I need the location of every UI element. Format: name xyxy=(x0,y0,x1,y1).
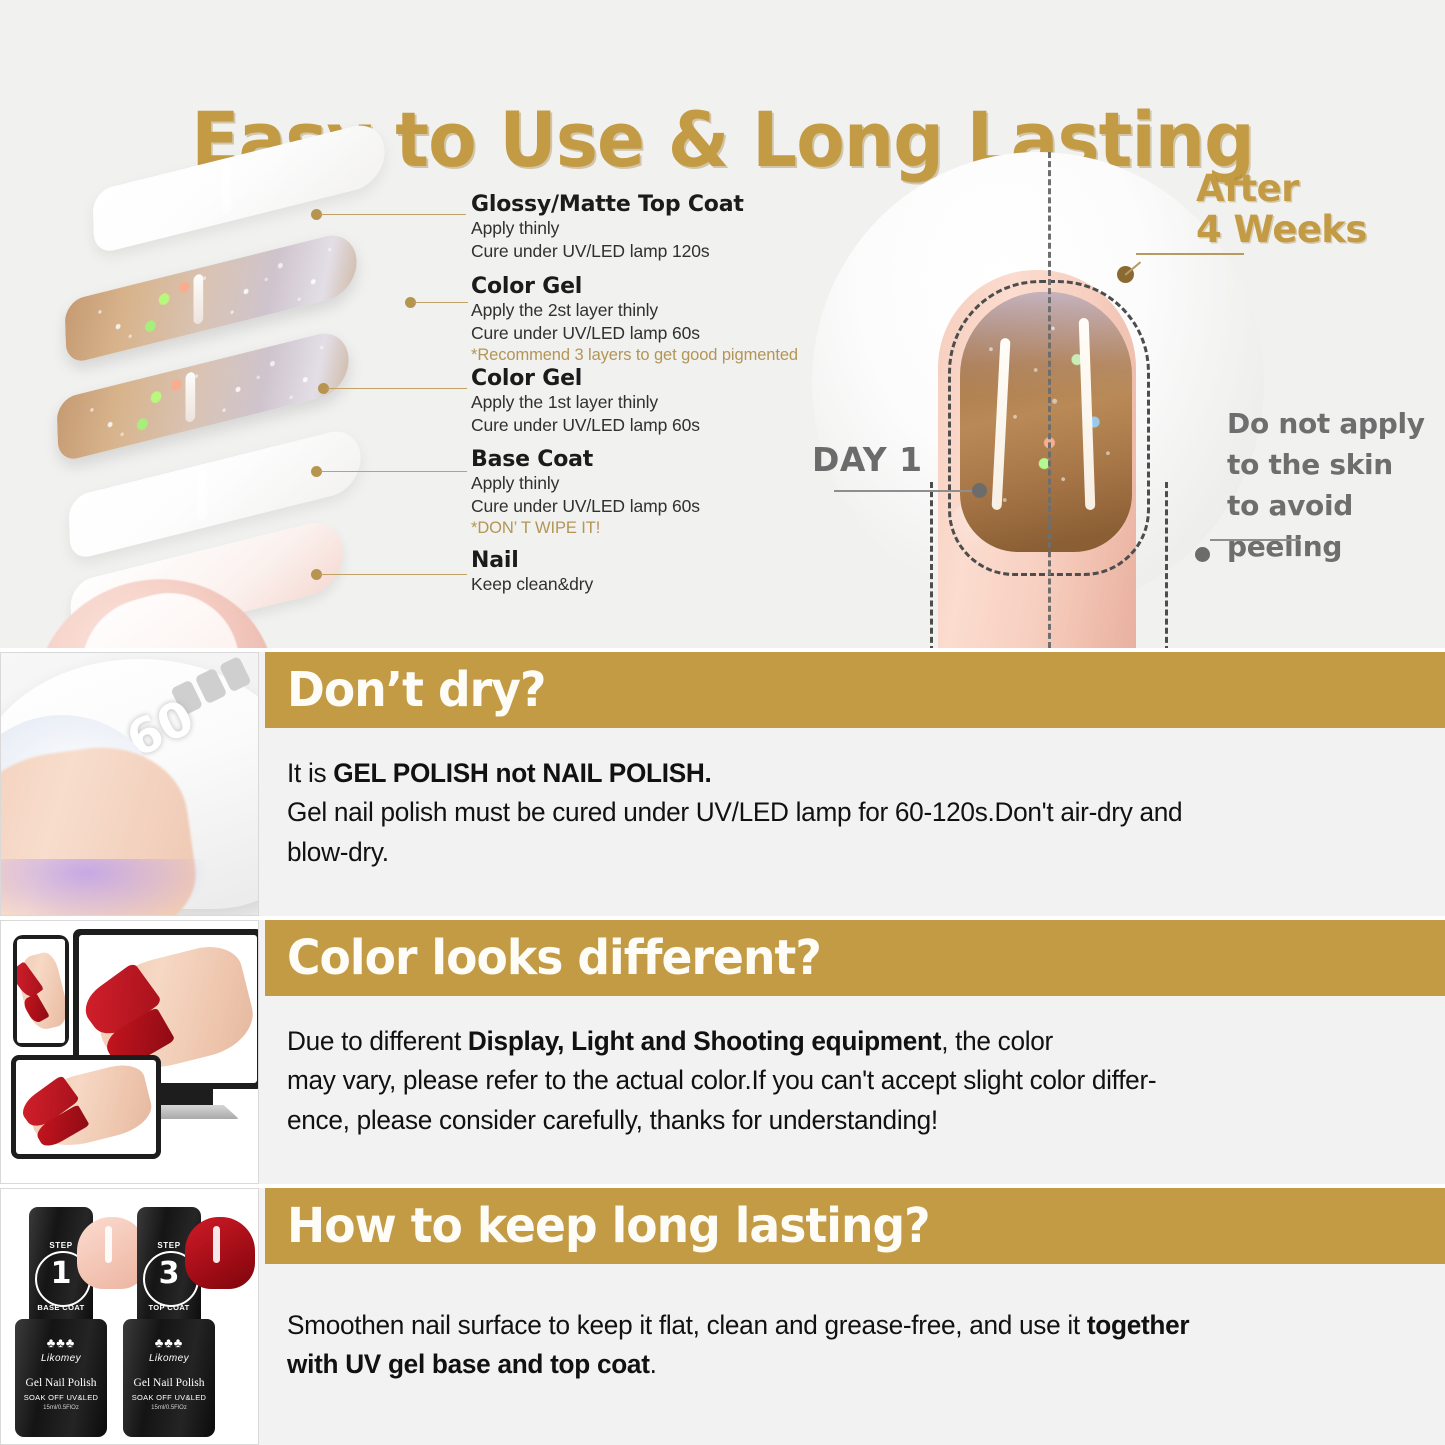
leader-line-nail xyxy=(320,574,467,575)
callout-base-coat: Base Coat Apply thinly Cure under UV/LED… xyxy=(471,447,700,540)
uv-glow xyxy=(0,859,211,916)
swatch-shine xyxy=(213,1226,220,1263)
leader-line-color-gel-2 xyxy=(414,302,468,303)
callout-color-gel-1: Color Gel Apply the 1st layer thinly Cur… xyxy=(471,366,700,437)
after-label-line-1: After xyxy=(1196,167,1299,210)
devices-photo xyxy=(0,920,259,1184)
day1-week4-divider xyxy=(1048,152,1051,648)
donot-line-1: Do not apply xyxy=(1227,407,1425,440)
callout-title: Glossy/Matte Top Coat xyxy=(471,192,744,217)
callout-line-2: Cure under UV/LED lamp 120s xyxy=(471,240,744,263)
faq-section-long-lasting: STEP 1 BASE COAT ♣♣♣ Likomey Gel Nail Po… xyxy=(0,1188,1445,1445)
do-not-apply-label: Do not apply to the skin to avoid peelin… xyxy=(1227,404,1445,568)
faq-header-bar: Color looks different? xyxy=(265,920,1445,996)
faq-content-dont-dry: Don’t dry? It is GEL POLISH not NAIL POL… xyxy=(265,652,1445,872)
bottles-photo: STEP 1 BASE COAT ♣♣♣ Likomey Gel Nail Po… xyxy=(0,1188,259,1445)
callout-title: Color Gel xyxy=(471,274,798,299)
volume-text: 15ml/0.5FlOz xyxy=(123,1405,215,1411)
nail-art-hand-image xyxy=(24,1060,156,1154)
soak-off-text: SOAK OFF UV&LED xyxy=(123,1393,215,1402)
callout-title: Nail xyxy=(471,548,593,573)
donot-line-2: to the skin xyxy=(1227,448,1393,481)
uv-lamp-photo: 60 xyxy=(0,652,259,916)
phone-screen xyxy=(17,939,65,1043)
donot-leader-line xyxy=(1210,539,1300,541)
step-type: BASE COAT xyxy=(29,1303,93,1312)
brand-name: Likomey xyxy=(15,1353,107,1364)
faq-heading: Color looks different? xyxy=(287,930,821,986)
callout-line-1: Apply the 2st layer thinly xyxy=(471,299,798,322)
day-1-label: DAY 1 xyxy=(812,440,923,479)
faq-body-text: Due to different Display, Light and Shoo… xyxy=(287,1022,1381,1140)
callout-note: *Recommend 3 layers to get good pigmente… xyxy=(471,345,798,367)
faq-content-long-lasting: How to keep long lasting? Smoothen nail … xyxy=(265,1188,1445,1385)
donot-line-3: to avoid peeling xyxy=(1227,489,1353,563)
infographic-page: Easy to Use & Long Lasting Glossy/Matte … xyxy=(0,0,1445,1445)
chip-shine xyxy=(193,274,203,326)
faq-body-text: It is GEL POLISH not NAIL POLISH.Gel nai… xyxy=(287,754,1381,872)
callout-title: Base Coat xyxy=(471,447,700,472)
callout-line-1: Keep clean&dry xyxy=(471,573,593,596)
phone-device xyxy=(13,935,69,1047)
product-name: Gel Nail Polish xyxy=(123,1377,215,1389)
callout-line-1: Apply the 1st layer thinly xyxy=(471,391,700,414)
faq-header-bar: How to keep long lasting? xyxy=(265,1188,1445,1264)
tablet-device xyxy=(11,1055,161,1159)
brand-name: Likomey xyxy=(123,1353,215,1364)
faq-section-color-different: Color looks different? Due to different … xyxy=(0,920,1445,1184)
red-nail-swatch xyxy=(185,1217,255,1289)
step-type: TOP COAT xyxy=(137,1303,201,1312)
hero-panel: Easy to Use & Long Lasting Glossy/Matte … xyxy=(0,0,1445,648)
brand-logo-icon: ♣♣♣ xyxy=(15,1335,107,1350)
devices-illustration xyxy=(1,921,258,1183)
faq-content-color-different: Color looks different? Due to different … xyxy=(265,920,1445,1140)
faq-heading: Don’t dry? xyxy=(287,662,545,718)
chip-shine xyxy=(197,470,207,522)
leader-line-top-coat xyxy=(320,214,466,215)
callout-top-coat: Glossy/Matte Top Coat Apply thinly Cure … xyxy=(471,192,744,263)
callout-note: *DON’ T WIPE IT! xyxy=(471,518,700,540)
faq-body-text: Smoothen nail surface to keep it flat, c… xyxy=(287,1306,1381,1385)
callout-line-2: Cure under UV/LED lamp 60s xyxy=(471,322,798,345)
product-name: Gel Nail Polish xyxy=(15,1377,107,1389)
leader-line-color-gel-1 xyxy=(327,388,467,389)
callout-line-2: Cure under UV/LED lamp 60s xyxy=(471,495,700,518)
monitor-stand xyxy=(153,1089,213,1105)
soak-off-text: SOAK OFF UV&LED xyxy=(15,1393,107,1402)
swatch-shine xyxy=(105,1226,112,1263)
volume-text: 15ml/0.5FlOz xyxy=(15,1405,107,1411)
callout-line-2: Cure under UV/LED lamp 60s xyxy=(471,414,700,437)
donot-leader-dot xyxy=(1195,547,1210,562)
faq-section-dont-dry: 60 Don’t dry? It is GEL POLISH not NAIL … xyxy=(0,652,1445,916)
after-leader-line xyxy=(1136,253,1244,255)
faq-body: Due to different Display, Light and Shoo… xyxy=(265,996,1445,1140)
leader-line-base-coat xyxy=(320,471,467,472)
day1-leader-dot xyxy=(972,483,987,498)
after-4-weeks-label: After 4 Weeks xyxy=(1196,168,1367,251)
after-label-line-2: 4 Weeks xyxy=(1196,208,1367,251)
callout-line-1: Apply thinly xyxy=(471,472,700,495)
faq-body: It is GEL POLISH not NAIL POLISH.Gel nai… xyxy=(265,728,1445,872)
tablet-screen xyxy=(16,1060,156,1154)
callout-title: Color Gel xyxy=(471,366,700,391)
callout-nail: Nail Keep clean&dry xyxy=(471,548,593,596)
chip-shine xyxy=(185,372,195,424)
bottles-illustration: STEP 1 BASE COAT ♣♣♣ Likomey Gel Nail Po… xyxy=(1,1189,258,1444)
callout-color-gel-2: Color Gel Apply the 2st layer thinly Cur… xyxy=(471,274,798,367)
brand-logo-icon: ♣♣♣ xyxy=(123,1335,215,1350)
chip-shine xyxy=(221,164,231,216)
faq-heading: How to keep long lasting? xyxy=(287,1198,930,1254)
nail-art-hand-image xyxy=(17,950,65,1033)
uv-lamp-illustration: 60 xyxy=(1,653,258,915)
faq-header-bar: Don’t dry? xyxy=(265,652,1445,728)
faq-body: Smoothen nail surface to keep it flat, c… xyxy=(265,1264,1445,1385)
callout-line-1: Apply thinly xyxy=(471,217,744,240)
day1-leader-line xyxy=(834,490,974,492)
